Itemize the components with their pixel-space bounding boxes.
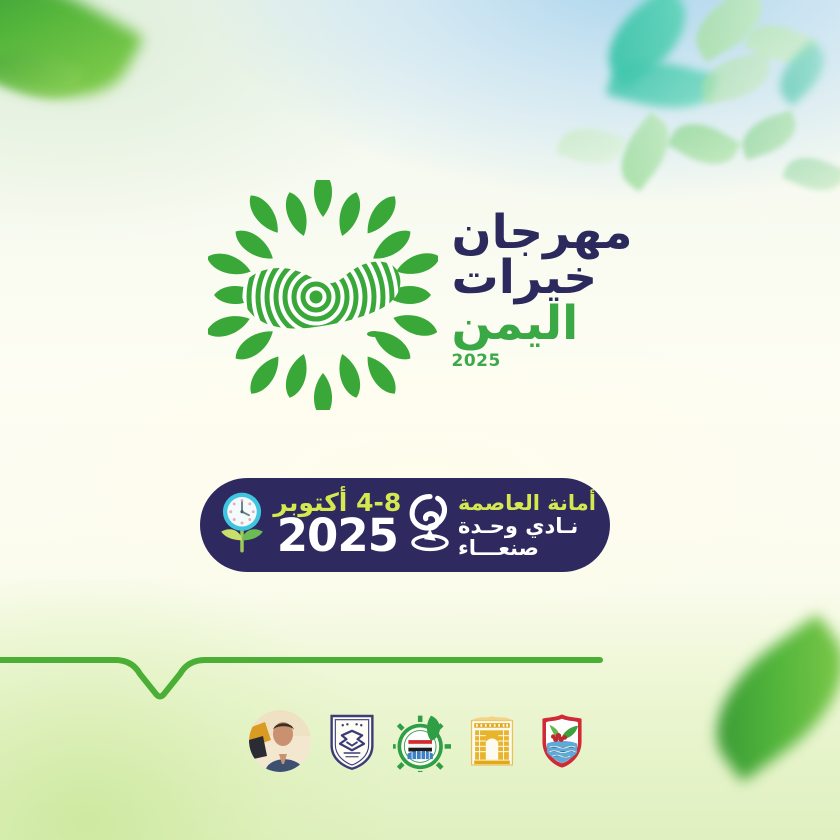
partner-logo-agriculture [393,706,451,776]
event-info-badge: أمانة العاصمة نـادي وحـدة صنعـــاء 4-8 أ… [200,478,610,572]
partner-logo-shield-navy [323,706,381,776]
location-pin-icon [407,492,453,558]
venue-line-2: نـادي وحـدة [458,515,578,537]
partner-logo-red-shield [533,706,591,776]
clock-flower-icon [216,490,268,560]
yemen-map-in-leaf-wreath-icon [208,180,438,410]
wordmark-line-3: اليمن [452,302,579,345]
venue-line-1: أمانة العاصمة [458,492,596,514]
date-block: 4-8 أكتوبر 2025 [273,490,401,560]
partner-logos [0,706,840,776]
wordmark-year: 2025 [452,354,501,370]
wordmark-line-1: مهرجان [452,211,633,254]
partner-logo-portrait [249,710,311,772]
partner-logo-sanaa-gate [463,706,521,776]
festival-poster: مهرجان خيرات اليمن 2025 [0,0,840,840]
venue-line-3: صنعـــاء [458,537,539,559]
wordmark-line-2: خيرات [452,256,598,299]
date-year: 2025 [277,513,398,558]
festival-wordmark: مهرجان خيرات اليمن 2025 [452,211,633,379]
venue-block: أمانة العاصمة نـادي وحـدة صنعـــاء [458,490,596,559]
green-divider-line [0,648,840,708]
festival-logo: مهرجان خيرات اليمن 2025 [0,180,840,410]
